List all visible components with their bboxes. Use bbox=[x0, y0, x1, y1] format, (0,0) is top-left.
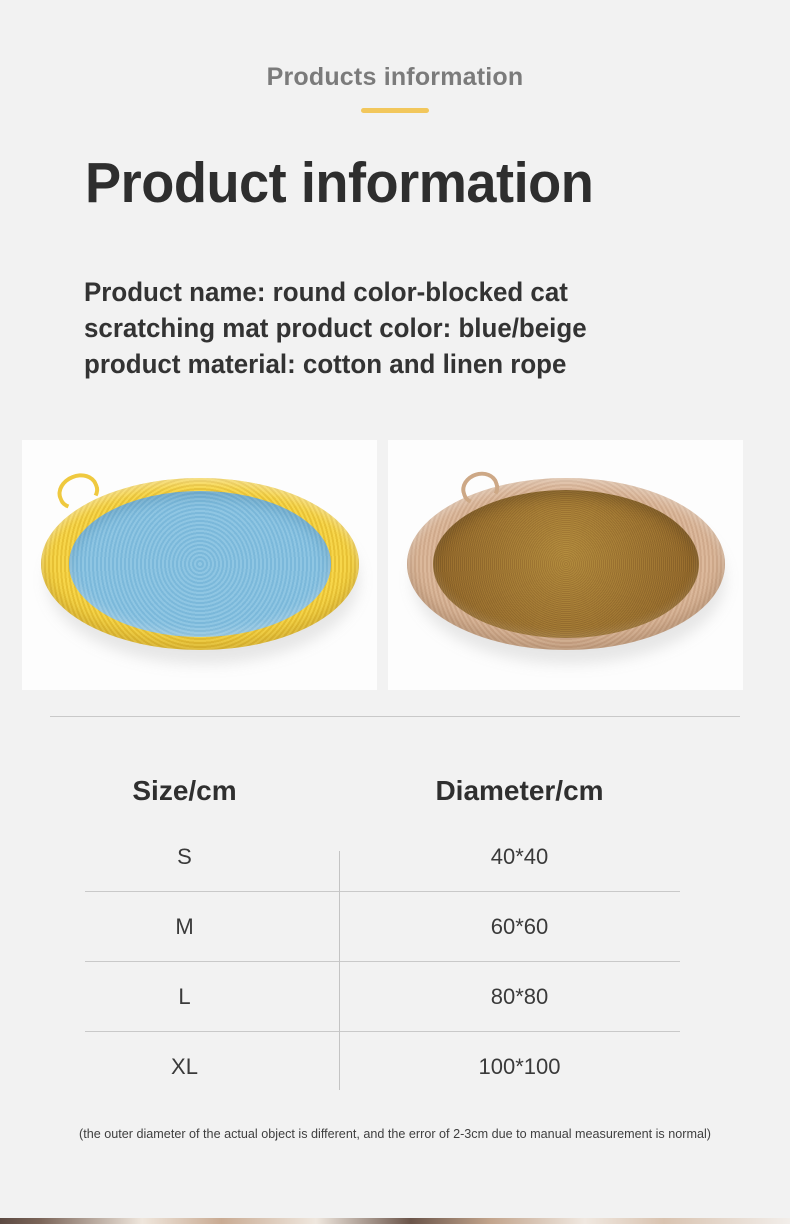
cell-size: L bbox=[0, 962, 339, 1032]
product-information-page: Products information Product information… bbox=[0, 0, 790, 1224]
beige-mat-illustration bbox=[401, 472, 731, 658]
cell-diameter: 40*40 bbox=[339, 822, 790, 892]
mat-inner-field bbox=[69, 491, 331, 637]
product-photo-beige bbox=[388, 440, 743, 690]
table-row: L 80*80 bbox=[0, 962, 790, 1032]
product-description: Product name: round color-blocked cat sc… bbox=[84, 274, 679, 382]
next-section-image-sliver bbox=[0, 1218, 790, 1224]
product-gallery bbox=[0, 440, 790, 690]
page-eyebrow: Products information bbox=[0, 63, 790, 92]
section-divider bbox=[50, 716, 740, 717]
table-row: S 40*40 bbox=[0, 822, 790, 892]
table-row: XL 100*100 bbox=[0, 1032, 790, 1102]
product-photo-blue bbox=[22, 440, 377, 690]
blue-mat-illustration bbox=[35, 472, 365, 658]
cell-diameter: 60*60 bbox=[339, 892, 790, 962]
cell-size: XL bbox=[0, 1032, 339, 1102]
table-header-row: Size/cm Diameter/cm bbox=[0, 760, 790, 822]
cell-size: M bbox=[0, 892, 339, 962]
measurement-footnote: (the outer diameter of the actual object… bbox=[12, 1126, 778, 1141]
cell-size: S bbox=[0, 822, 339, 892]
table-row: M 60*60 bbox=[0, 892, 790, 962]
page-title: Product information bbox=[85, 148, 712, 218]
title-accent-bar bbox=[361, 108, 429, 113]
column-header-size: Size/cm bbox=[0, 760, 339, 822]
cell-diameter: 80*80 bbox=[339, 962, 790, 1032]
cell-diameter: 100*100 bbox=[339, 1032, 790, 1102]
mat-inner-field bbox=[433, 490, 699, 638]
column-header-diameter: Diameter/cm bbox=[339, 760, 790, 822]
table-column-divider bbox=[339, 851, 340, 1090]
size-table: Size/cm Diameter/cm S 40*40 M 60*60 L 80… bbox=[0, 760, 790, 1102]
mat-outer-rim bbox=[407, 478, 725, 650]
